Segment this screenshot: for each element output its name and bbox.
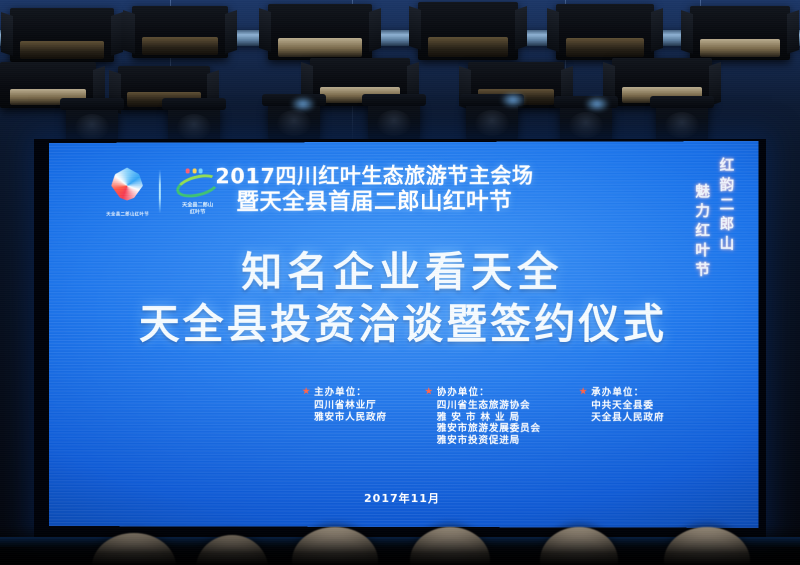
organizer-entries: 中共天全县委 天全县人民政府 <box>579 400 664 423</box>
organizer-entry: 四川省生态旅游协会 <box>437 400 541 412</box>
organizer-entry: 雅 安 市 林 业 局 <box>437 412 541 424</box>
presentation-slide: 天全县二郎山红叶节 天全县二郎山 红叶节 <box>49 141 759 528</box>
organizer-label: 协办单位： <box>437 384 490 398</box>
stage-photo-scene: 天全县二郎山红叶节 天全县二郎山 红叶节 <box>0 0 800 565</box>
light-beam-glow <box>290 96 316 112</box>
led-screen-frame: 天全县二郎山红叶节 天全县二郎山 红叶节 <box>34 139 766 537</box>
header-line-1: 2017四川红叶生态旅游节主会场 <box>160 164 590 190</box>
stage-light-fresnel <box>132 6 228 58</box>
organizer-entry: 天全县人民政府 <box>591 412 664 424</box>
organizer-entries: 四川省林业厅 雅安市人民政府 <box>302 400 387 423</box>
title-line-2: 天全县投资洽谈暨签约仪式 <box>49 298 759 351</box>
slide-title: 知名企业看天全 天全县投资洽谈暨签约仪式 <box>49 246 759 352</box>
organizer-entry: 雅安市人民政府 <box>314 412 387 424</box>
stage-light-fresnel <box>418 2 518 60</box>
star-marker-icon <box>579 387 587 395</box>
organizer-block-coorganizer: 协办单位： 四川省生态旅游协会 雅 安 市 林 业 局 雅安市旅游发展委员会 雅… <box>425 384 541 447</box>
stage-light-fresnel <box>690 6 790 60</box>
shuangbai-leaf-logo: 天全县二郎山红叶节 <box>106 166 148 218</box>
light-beam-glow <box>500 92 526 108</box>
title-line-1: 知名企业看天全 <box>49 246 759 299</box>
organizer-entry: 雅安市投资促进局 <box>437 435 541 447</box>
organizer-heading: 协办单位： <box>425 384 541 398</box>
organizer-entry: 中共天全县委 <box>591 400 664 412</box>
organizer-columns: 主办单位： 四川省林业厅 雅安市人民政府 协办单位： 四 <box>302 384 733 447</box>
leaf-emblem-icon <box>111 168 143 201</box>
organizer-block-undertaker: 承办单位： 中共天全县委 天全县人民政府 <box>579 384 664 447</box>
stage-light-fresnel <box>556 4 654 60</box>
organizer-entry: 四川省林业厅 <box>314 400 387 412</box>
organizer-heading: 承办单位： <box>579 384 664 398</box>
organizer-entries: 四川省生态旅游协会 雅 安 市 林 业 局 雅安市旅游发展委员会 雅安市投资促进… <box>425 400 541 447</box>
organizer-label: 主办单位： <box>314 384 367 398</box>
slide-date: 2017年11月 <box>49 489 759 507</box>
header-line-2: 暨天全县首届二郎山红叶节 <box>160 189 590 217</box>
organizer-label: 承办单位： <box>591 384 644 398</box>
light-beam-glow <box>584 96 610 112</box>
stage-light-fresnel <box>10 8 114 62</box>
organizer-block-host: 主办单位： 四川省林业厅 雅安市人民政府 <box>302 384 387 446</box>
organizer-heading: 主办单位： <box>302 384 387 398</box>
slide-header: 2017四川红叶生态旅游节主会场 暨天全县首届二郎山红叶节 <box>160 164 590 217</box>
stage-light-fresnel <box>268 4 372 60</box>
star-marker-icon <box>302 387 310 395</box>
led-screen: 天全县二郎山红叶节 天全县二郎山 红叶节 <box>49 141 759 528</box>
foreground-shadow <box>0 525 800 565</box>
organizer-entry: 雅安市旅游发展委员会 <box>437 423 541 435</box>
star-marker-icon <box>425 387 433 395</box>
logo-caption: 天全县二郎山红叶节 <box>106 211 148 217</box>
